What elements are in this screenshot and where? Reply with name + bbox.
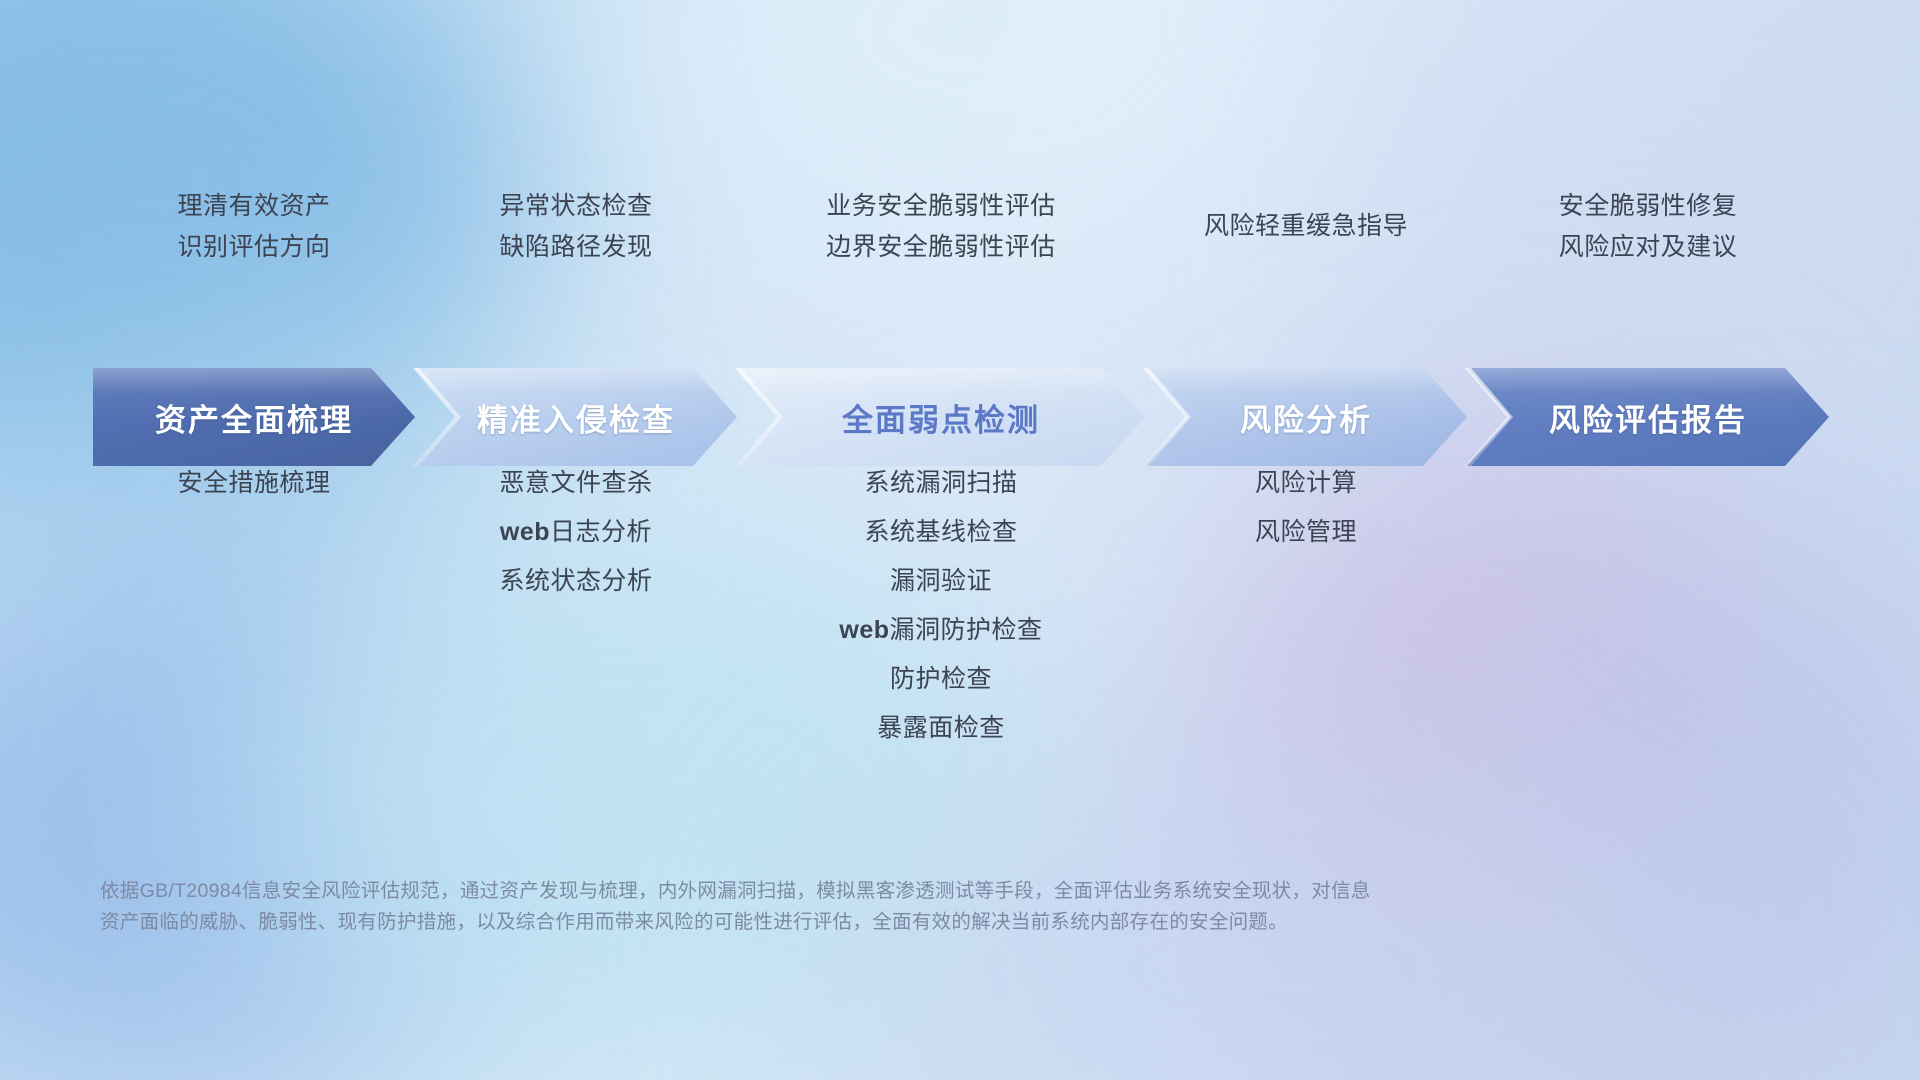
process-diagram: 理清有效资产识别评估方向异常状态检查缺陷路径发现业务安全脆弱性评估边界安全脆弱性… (0, 0, 1920, 1080)
chevron-stage-asset-inventory[interactable]: 资产全面梳理 (93, 368, 415, 466)
footer-description: 依据GB/T20984信息安全风险评估规范，通过资产发现与梳理，内外网漏洞扫描，… (100, 876, 1660, 938)
footer-line-2: 资产面临的威胁、脆弱性、现有防护措施，以及综合作用而带来风险的可能性进行评估，全… (100, 907, 1660, 938)
task-item: 漏洞验证 (731, 557, 1151, 606)
footer-line-1: 依据GB/T20984信息安全风险评估规范，通过资产发现与梳理，内外网漏洞扫描，… (100, 876, 1660, 907)
task-item-en: web (500, 518, 550, 546)
task-item: web漏洞防护检查 (731, 606, 1151, 655)
task-item: 风险计算 (1096, 459, 1516, 508)
outcome-item: 安全脆弱性修复 (1438, 186, 1858, 227)
outcome-item: 缺陷路径发现 (366, 227, 786, 268)
outcome-item: 业务安全脆弱性评估 (731, 186, 1151, 227)
chevron-label: 精准入侵检查 (477, 395, 675, 440)
task-item: 系统基线检查 (731, 508, 1151, 557)
outcome-list-assessment-report: 安全脆弱性修复风险应对及建议 (1438, 186, 1858, 268)
task-item-zh: 漏洞防护检查 (890, 616, 1043, 644)
task-item-en: web (839, 616, 889, 644)
chevron-label: 全面弱点检测 (842, 395, 1040, 440)
chevron-label: 资产全面梳理 (155, 395, 353, 440)
outcome-item: 异常状态检查 (366, 186, 786, 227)
outcome-list-intrusion-check: 异常状态检查缺陷路径发现 (366, 186, 786, 268)
task-item: 风险管理 (1096, 508, 1516, 557)
task-item: 系统漏洞扫描 (731, 459, 1151, 508)
chevron-stage-weakness-detection[interactable]: 全面弱点检测 (737, 368, 1145, 466)
outcome-row: 理清有效资产识别评估方向异常状态检查缺陷路径发现业务安全脆弱性评估边界安全脆弱性… (0, 186, 1920, 291)
chevron-stage-intrusion-check[interactable]: 精准入侵检查 (415, 368, 737, 466)
task-item-zh: 日志分析 (550, 518, 652, 546)
outcome-item: 风险应对及建议 (1438, 227, 1858, 268)
chevron-label: 风险分析 (1240, 395, 1372, 440)
chevron-stage-assessment-report[interactable]: 风险评估报告 (1467, 368, 1829, 466)
task-item: web日志分析 (366, 508, 786, 557)
outcome-list-weakness-detection: 业务安全脆弱性评估边界安全脆弱性评估 (731, 186, 1151, 268)
outcome-item: 边界安全脆弱性评估 (731, 227, 1151, 268)
task-item: 恶意文件查杀 (366, 459, 786, 508)
process-chevron-band: 资产全面梳理精准入侵检查全面弱点检测风险分析风险评估报告 (0, 368, 1920, 466)
task-item: 防护检查 (731, 655, 1151, 704)
task-item: 暴露面检查 (731, 704, 1151, 753)
task-item: 系统状态分析 (366, 557, 786, 606)
chevron-stage-risk-analysis[interactable]: 风险分析 (1145, 368, 1467, 466)
chevron-label: 风险评估报告 (1549, 395, 1747, 440)
